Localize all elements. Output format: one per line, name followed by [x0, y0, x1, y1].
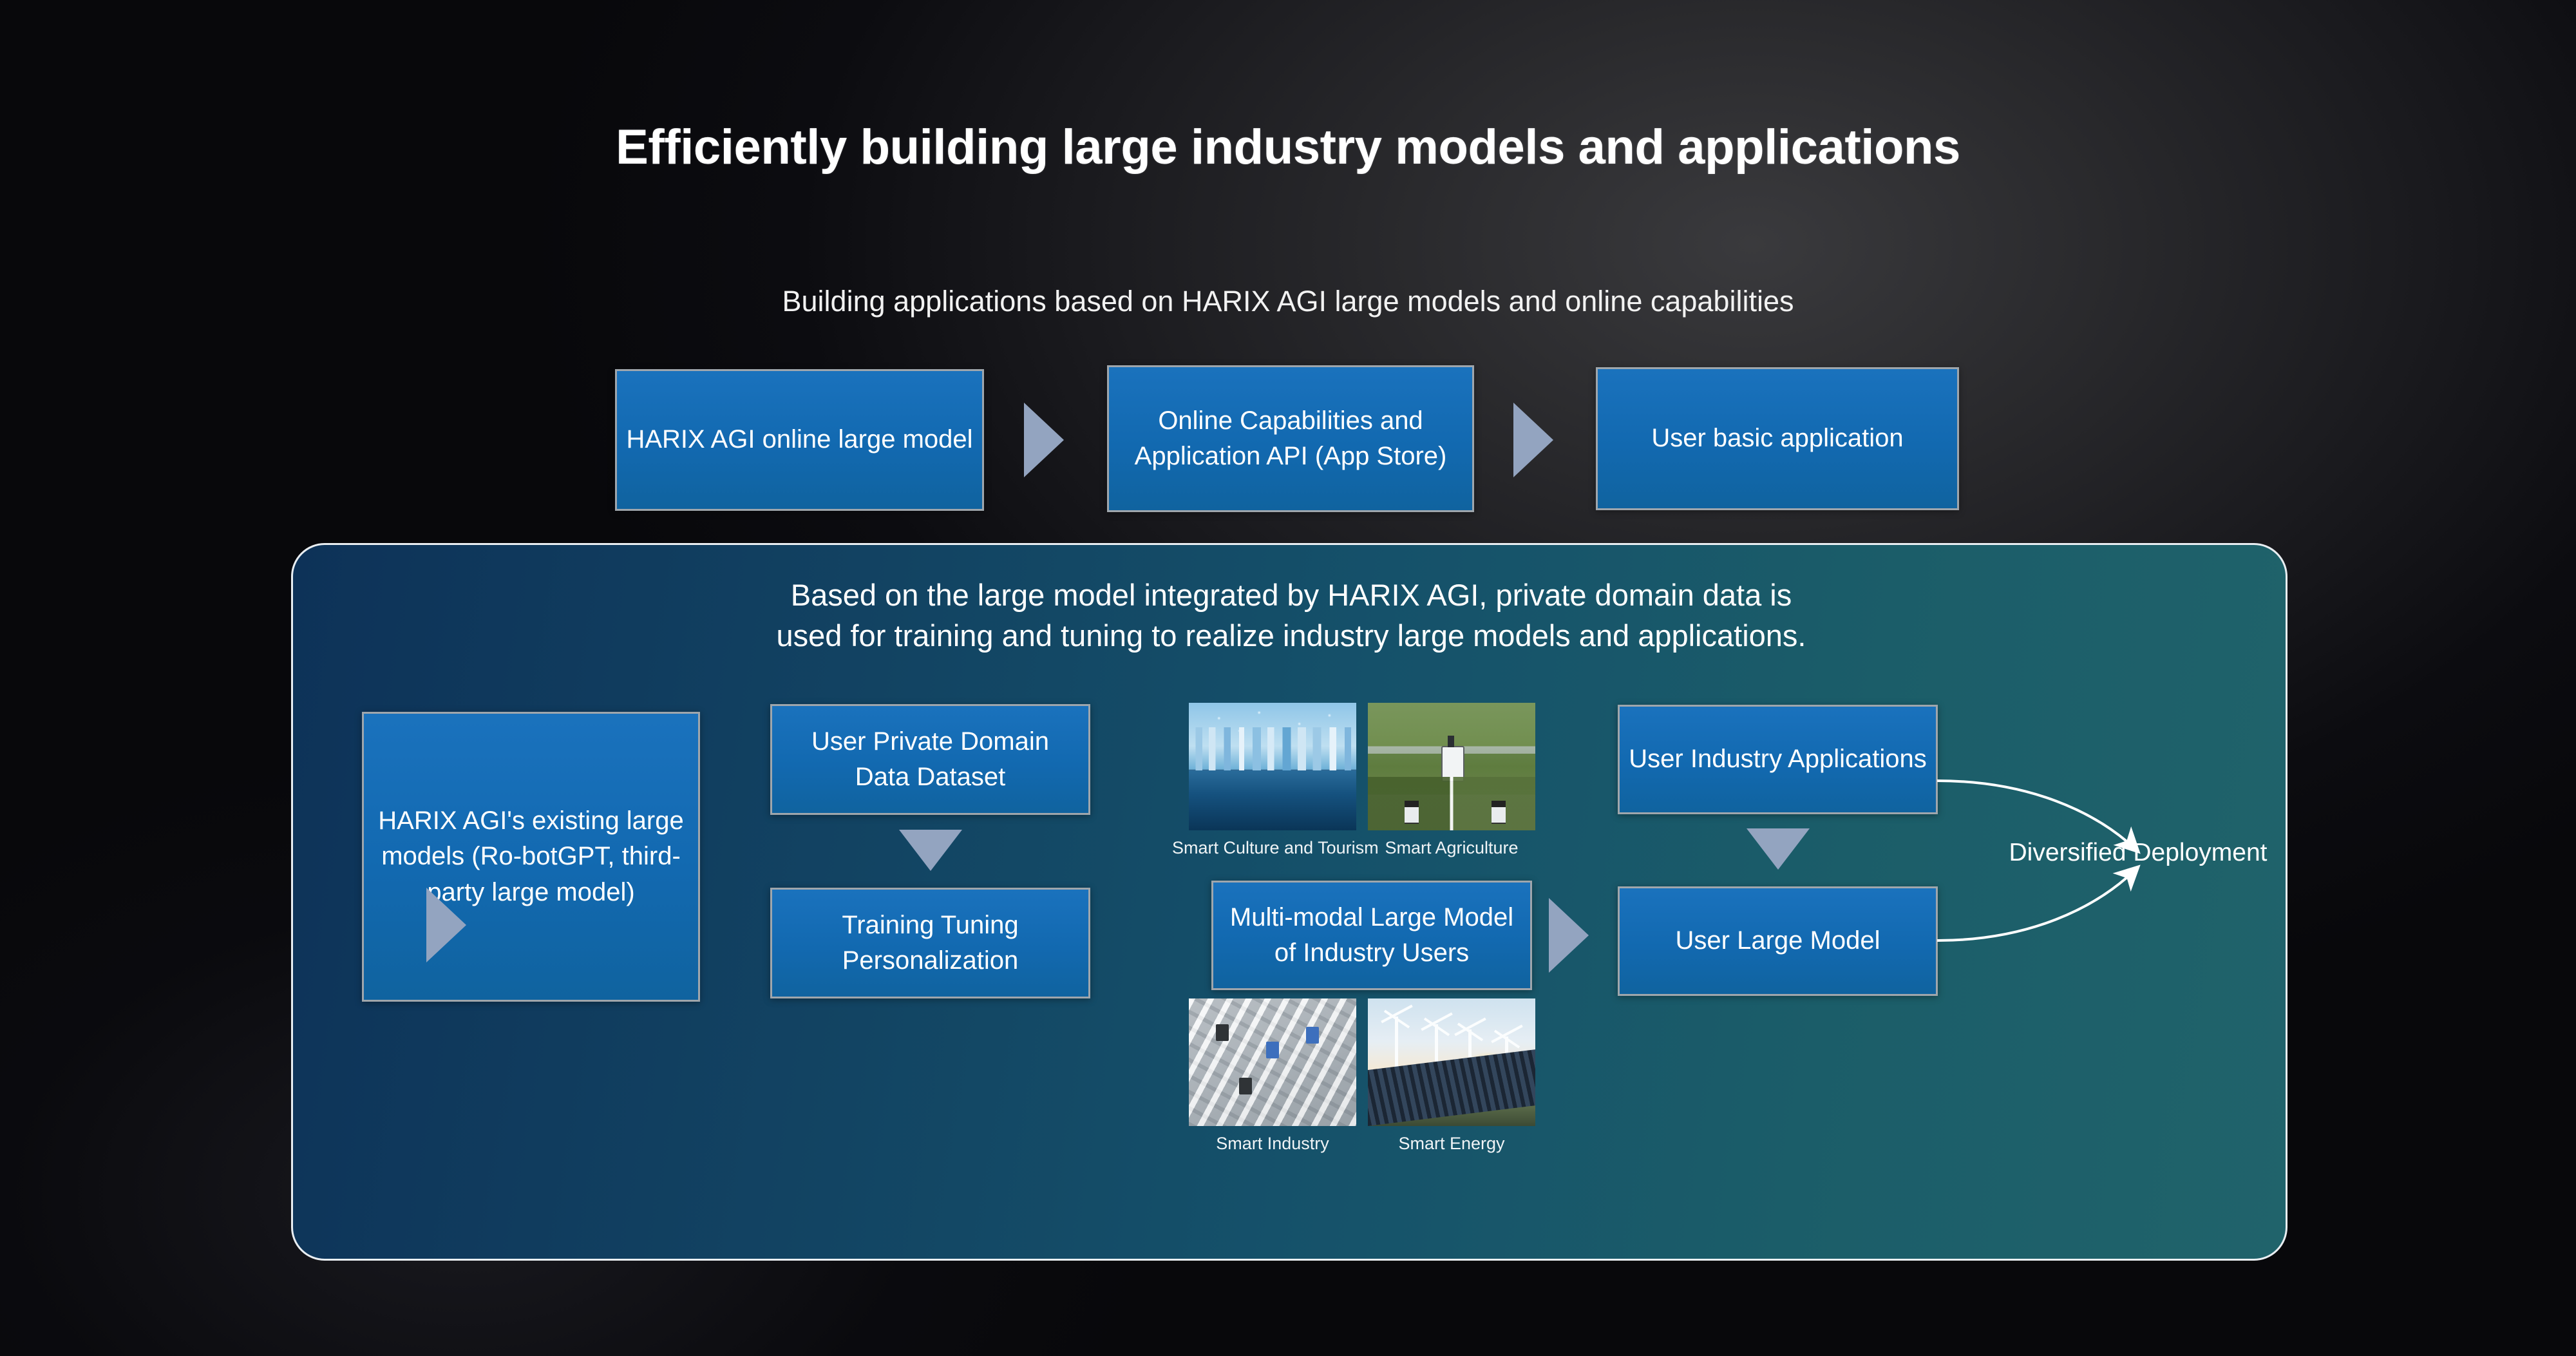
thumbnail-caption: Smart Agriculture	[1368, 838, 1535, 858]
triangle-right-arrow-icon	[1513, 403, 1553, 477]
panel-training-tuning-box[interactable]: Training TuningPersonalization	[770, 888, 1090, 998]
thumbnail-smart-culture-and-tourism: Smart Culture and Tourism	[1189, 703, 1379, 858]
thumbnail-caption: Smart Energy	[1368, 1134, 1535, 1154]
panel-heading-line-2: used for training and tuning to realize …	[293, 616, 2287, 656]
wind-solar-farm-image	[1368, 998, 1535, 1126]
panel-user-private-domain-box[interactable]: User Private DomainData Dataset	[770, 704, 1090, 815]
panel-multimodal-model-label: Multi-modal Large Modelof Industry Users	[1221, 900, 1522, 971]
page-subtitle: Building applications based on HARIX AGI…	[0, 285, 2576, 318]
thumbnail-caption: Smart Culture and Tourism	[1172, 838, 1379, 858]
factory-floor-image	[1189, 998, 1356, 1126]
thumbnail-smart-industry: Smart Industry	[1189, 998, 1356, 1154]
panel-training-tuning-label: Training TuningPersonalization	[833, 908, 1027, 979]
panel-user-large-model-box[interactable]: User Large Model	[1618, 886, 1938, 996]
panel-heading-line-1: Based on the large model integrated by H…	[293, 575, 2287, 616]
top-flow-box-2[interactable]: Online Capabilities andApplication API (…	[1107, 365, 1474, 512]
panel-user-industry-applications-box[interactable]: User Industry Applications	[1618, 705, 1938, 814]
top-flow-box-3[interactable]: User basic application	[1596, 367, 1959, 510]
triangle-down-arrow-icon	[1747, 828, 1810, 870]
thumbnail-caption: Smart Industry	[1189, 1134, 1356, 1154]
slide-stage: Efficiently building large industry mode…	[0, 0, 2576, 1356]
top-flow-box-2-label: Online Capabilities andApplication API (…	[1126, 403, 1456, 474]
panel-user-industry-applications-label: User Industry Applications	[1620, 741, 1935, 777]
panel-left-box-label: HARIX AGI's existing large models (Ro-bo…	[364, 803, 698, 910]
panel-heading: Based on the large model integrated by H…	[293, 575, 2287, 656]
triangle-right-arrow-icon	[426, 888, 466, 962]
page-title: Efficiently building large industry mode…	[0, 119, 2576, 175]
panel-left-box[interactable]: HARIX AGI's existing large models (Ro-bo…	[362, 712, 700, 1002]
triangle-down-arrow-icon	[899, 830, 962, 871]
diversified-deployment-label: Diversified Deployment	[1984, 839, 2293, 867]
smart-city-skyline-image	[1189, 703, 1356, 830]
greenhouse-robot-image	[1368, 703, 1535, 830]
top-flow-box-1[interactable]: HARIX AGI online large model	[615, 369, 984, 511]
top-flow-box-1-label: HARIX AGI online large model	[617, 422, 981, 457]
triangle-right-arrow-icon	[1549, 898, 1589, 973]
panel-user-large-model-label: User Large Model	[1667, 923, 1889, 959]
thumbnail-smart-agriculture: Smart Agriculture	[1368, 703, 1535, 858]
panel-user-private-domain-label: User Private DomainData Dataset	[802, 724, 1058, 795]
panel-multimodal-model-box[interactable]: Multi-modal Large Modelof Industry Users	[1211, 881, 1532, 990]
top-flow-box-3-label: User basic application	[1642, 421, 1912, 456]
thumbnail-smart-energy: Smart Energy	[1368, 998, 1535, 1154]
triangle-right-arrow-icon	[1024, 403, 1064, 477]
